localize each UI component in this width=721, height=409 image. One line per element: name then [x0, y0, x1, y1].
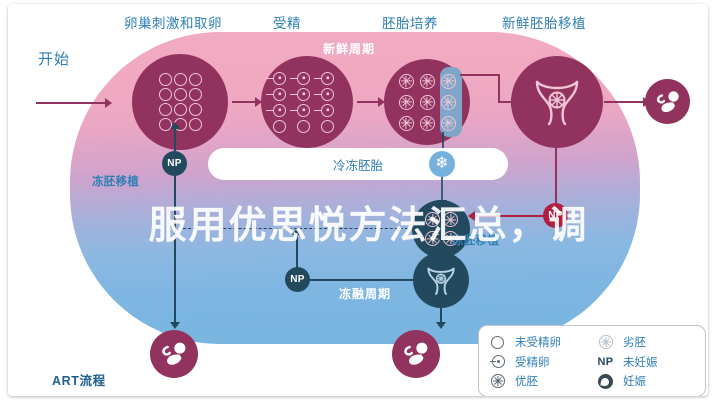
left-np-badge[interactable]: NP [162, 151, 187, 176]
legend-item-pregnant: 妊娠 [597, 372, 699, 390]
unfertilized-egg-icon [174, 73, 187, 86]
unfertilized-egg-icon [273, 120, 286, 133]
frozen-uterus-to-np-line [298, 279, 414, 281]
legend-label: 受精卵 [515, 354, 550, 370]
good-embryo-icon [399, 95, 414, 110]
pregnancy-outcome-node-top-right[interactable] [645, 79, 690, 124]
column-heading-fresh-transfer: 新鲜胚胎移植 [502, 12, 586, 32]
right-np-left-arrow [468, 211, 475, 221]
connector-culture-top-line [460, 74, 500, 76]
bottom-np-badge[interactable]: NP [285, 267, 310, 292]
pregnancy-outcome-node-bottom-left[interactable] [150, 330, 198, 378]
frozen-thaw-cycle-label: 冻融周期 [339, 285, 391, 302]
good-embryo-icon [420, 116, 435, 131]
connector-pool-down-arrow [436, 235, 446, 242]
start-connector-arrow [105, 98, 112, 108]
good-embryo-icon [399, 74, 414, 89]
snowflake-icon: ❄ [429, 151, 455, 177]
legend-label: 未妊娠 [623, 354, 658, 370]
fertilized-egg-icon [489, 355, 506, 368]
poor-embryo-icon [597, 335, 614, 349]
left-np-down-line [174, 175, 176, 229]
pregnancy-icon [597, 374, 614, 389]
good-embryo-icon [420, 95, 435, 110]
unfertilized-egg-icon [159, 88, 172, 101]
embryo-culture-node[interactable] [384, 59, 470, 145]
unfertilized-egg-icon [189, 103, 202, 116]
right-np-badge[interactable]: NP [543, 203, 568, 228]
oocyte-grid [159, 73, 202, 131]
unfertilized-egg-icon [189, 73, 202, 86]
np-icon: NP [597, 356, 614, 368]
good-embryo-icon [425, 212, 440, 227]
connector-freeze-down-line [441, 177, 443, 201]
legend-column-right: 劣胚 NP 未妊娠 妊娠 [597, 333, 699, 390]
connector-fresh-to-baby-line [604, 101, 644, 103]
right-np-down-line [555, 148, 557, 204]
fertilized-egg-icon [297, 104, 310, 117]
fertilization-grid [273, 72, 341, 133]
legend-panel: 未受精卵 受精卵 优胚 [478, 325, 706, 396]
start-connector-line [36, 102, 106, 104]
legend-item-good-embryo: 优胚 [489, 372, 591, 390]
legend-label: 妊娠 [623, 373, 646, 389]
pregnancy-outcome-node-bottom-right[interactable] [392, 330, 440, 378]
frozen-embryo-transfer-node[interactable] [413, 252, 469, 308]
legend-label: 未受精卵 [515, 334, 561, 350]
left-outcome-line [174, 228, 176, 324]
unfertilized-egg-icon [189, 118, 202, 131]
unfertilized-egg-icon [489, 336, 506, 349]
connector-to-fresh-transfer-line [498, 101, 512, 103]
connector-fertilization-to-culture-line [357, 101, 379, 103]
legend-label: 优胚 [515, 373, 538, 389]
good-embryo-icon [441, 74, 456, 89]
unfertilized-egg-icon [189, 88, 202, 101]
embryo-grid [399, 74, 456, 131]
fertilized-egg-icon [273, 72, 286, 85]
screenshot-root: 卵巢刺激和取卵 受精 胚胎培养 新鲜胚胎移植 新鲜周期 冻融周期 开始 [0, 0, 721, 409]
unfertilized-egg-icon [321, 120, 334, 133]
frozen-embryo-pool-node[interactable] [412, 200, 470, 258]
connector-retrieval-to-fertilization-line [232, 101, 256, 103]
legend-item-unfertilized-egg: 未受精卵 [489, 333, 591, 351]
pregnancy-icon [653, 87, 683, 117]
legend-column-left: 未受精卵 受精卵 优胚 [489, 333, 591, 390]
connector-culture-down-line [498, 74, 500, 102]
unfertilized-egg-icon [174, 103, 187, 116]
frozen-outcome-arrow [436, 322, 446, 329]
good-embryo-icon [489, 374, 506, 388]
good-embryo-icon [420, 74, 435, 89]
fertilized-egg-icon [297, 72, 310, 85]
art-flow-label: ART流程 [52, 370, 106, 389]
diagram-stage: 卵巢刺激和取卵 受精 胚胎培养 新鲜胚胎移植 新鲜周期 冻融周期 开始 [8, 4, 708, 396]
unfertilized-egg-icon [159, 103, 172, 116]
oocyte-retrieval-node[interactable] [132, 54, 228, 150]
uterus-icon [422, 261, 460, 299]
legend-item-poor-embryo: 劣胚 [597, 333, 699, 351]
good-embryo-icon [441, 116, 456, 131]
legend-item-fertilized-egg: 受精卵 [489, 353, 591, 371]
diagram-card: 卵巢刺激和取卵 受精 胚胎培养 新鲜胚胎移植 新鲜周期 冻融周期 开始 [8, 4, 708, 396]
fertilization-node[interactable] [261, 56, 353, 148]
fertilized-egg-icon [321, 72, 334, 85]
column-heading-embryo-culture: 胚胎培养 [382, 12, 438, 32]
bottom-np-up-arrow [292, 228, 302, 235]
fresh-embryo-transfer-node[interactable] [511, 56, 603, 148]
frozen-embryo-label: 冷冻胚胎 [333, 155, 383, 174]
fertilized-egg-icon [273, 104, 286, 117]
right-frozen-transfer-label: 冻胚移植 [452, 232, 499, 248]
bottom-np-up-line [296, 234, 298, 268]
fresh-cycle-label: 新鲜周期 [323, 40, 375, 57]
unfertilized-egg-icon [174, 88, 187, 101]
column-heading-fertilization: 受精 [273, 12, 301, 32]
unfertilized-egg-icon [159, 73, 172, 86]
pregnancy-icon [400, 338, 432, 370]
left-np-up-arrow [170, 122, 180, 129]
column-heading-ovarian-stimulation: 卵巢刺激和取卵 [124, 12, 222, 32]
legend-item-not-pregnant: NP 未妊娠 [597, 353, 699, 371]
unfertilized-egg-icon [297, 120, 310, 133]
left-frozen-transfer-label: 冻胚移植 [92, 173, 139, 189]
fertilized-egg-icon [321, 104, 334, 117]
frozen-embryo-bar[interactable]: 冷冻胚胎 [208, 148, 508, 180]
fertilized-egg-icon [297, 88, 310, 101]
uterus-icon [527, 72, 587, 132]
fertilized-egg-icon [321, 88, 334, 101]
good-embryo-icon [443, 212, 458, 227]
good-embryo-icon [399, 116, 414, 131]
start-label: 开始 [38, 48, 70, 69]
left-outcome-arrow [170, 322, 180, 329]
left-np-up-line [174, 127, 176, 151]
pregnancy-icon [158, 338, 190, 370]
right-np-left-line [474, 215, 544, 217]
legend-label: 劣胚 [623, 334, 646, 350]
fertilized-egg-icon [273, 88, 286, 101]
good-embryo-icon [441, 95, 456, 110]
